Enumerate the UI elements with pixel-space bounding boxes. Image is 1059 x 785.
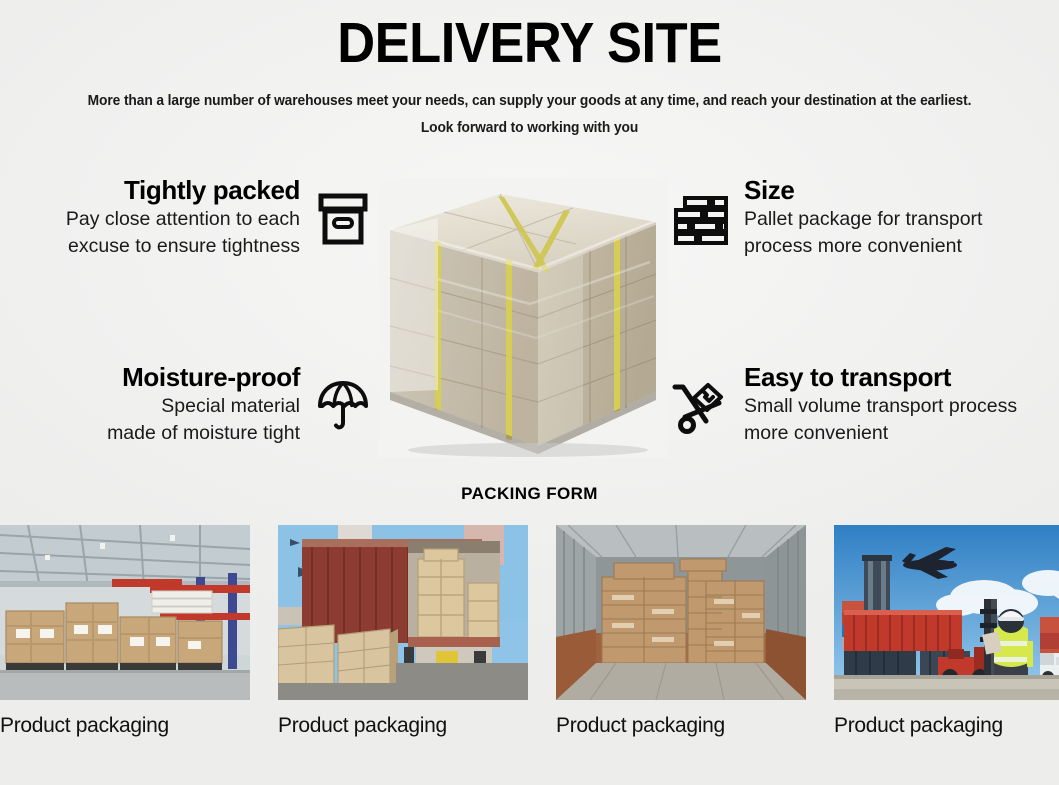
gallery-item[interactable]: Product packaging xyxy=(556,525,806,755)
hand-truck-icon xyxy=(672,377,730,439)
gallery-thumbnail-container-interior[interactable] xyxy=(556,525,806,700)
subtitle-block: More than a large number of warehouses m… xyxy=(0,88,1059,143)
feature-desc-line-2: process more convenient xyxy=(744,234,982,259)
packing-form-heading: PACKING FORM xyxy=(0,484,1059,504)
brick-wall-icon xyxy=(672,190,730,252)
gallery-caption: Product packaging xyxy=(834,714,1059,737)
umbrella-icon xyxy=(314,375,372,437)
gallery-item[interactable]: Product packaging xyxy=(278,525,528,755)
page-title: DELIVERY SITE xyxy=(42,14,1016,74)
feature-text: Size Pallet package for transport proces… xyxy=(744,176,982,259)
delivery-site-page: DELIVERY SITE More than a large number o… xyxy=(0,0,1059,785)
feature-title: Size xyxy=(744,176,982,205)
gallery-thumbnail-container-loading[interactable] xyxy=(278,525,528,700)
feature-desc-line-2: made of moisture tight xyxy=(107,421,300,446)
gallery-caption: Product packaging xyxy=(278,714,528,737)
feature-title: Tightly packed xyxy=(66,176,300,205)
feature-title: Moisture-proof xyxy=(107,363,300,392)
feature-desc-line-1: Pay close attention to each xyxy=(66,207,300,232)
feature-easy-to-transport: Easy to transport Small volume transport… xyxy=(672,363,1059,446)
subtitle-line-1: More than a large number of warehouses m… xyxy=(26,88,1032,116)
gallery-thumbnail-port-yard[interactable] xyxy=(834,525,1059,700)
packing-form-gallery: Product packaging xyxy=(0,525,1059,755)
feature-desc-line-2: more convenient xyxy=(744,421,1017,446)
gallery-caption: Product packaging xyxy=(0,714,250,737)
feature-desc-line-1: Small volume transport process xyxy=(744,394,1017,419)
pallet-photo xyxy=(378,178,668,458)
pallet-illustration xyxy=(378,178,668,458)
gallery-caption: Product packaging xyxy=(556,714,806,737)
gallery-item[interactable]: Product packaging xyxy=(834,525,1059,755)
feature-tightly-packed: Tightly packed Pay close attention to ea… xyxy=(0,176,372,259)
feature-size: Size Pallet package for transport proces… xyxy=(672,176,1059,259)
feature-desc-line-1: Pallet package for transport xyxy=(744,207,982,232)
feature-text: Tightly packed Pay close attention to ea… xyxy=(66,176,300,259)
gallery-thumbnail-warehouse[interactable] xyxy=(0,525,250,700)
gallery-item[interactable]: Product packaging xyxy=(0,525,250,755)
feature-desc-line-2: excuse to ensure tightness xyxy=(66,234,300,259)
feature-text: Moisture-proof Special material made of … xyxy=(107,363,300,446)
feature-desc-line-1: Special material xyxy=(107,394,300,419)
subtitle-line-2: Look forward to working with you xyxy=(26,115,1032,143)
feature-title: Easy to transport xyxy=(744,363,1017,392)
page-header: DELIVERY SITE More than a large number o… xyxy=(0,0,1059,143)
archive-box-icon xyxy=(314,188,372,250)
feature-text: Easy to transport Small volume transport… xyxy=(744,363,1017,446)
feature-moisture-proof: Moisture-proof Special material made of … xyxy=(0,363,372,446)
